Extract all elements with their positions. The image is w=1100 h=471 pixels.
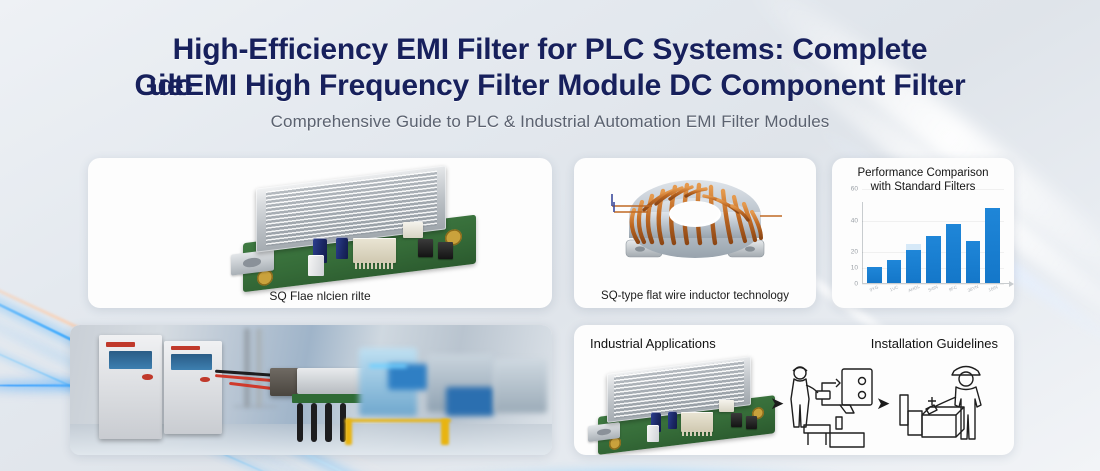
chart-bar-column: AHGL bbox=[906, 202, 921, 283]
card-applications-guidelines: Industrial Applications Installation Gui… bbox=[574, 325, 1014, 455]
filter-enclosure-icon bbox=[270, 368, 299, 397]
chart-bar bbox=[887, 260, 902, 283]
machinery-icon bbox=[446, 387, 494, 416]
conduit-pipe-icon bbox=[234, 406, 277, 408]
page-title-line-1: High-Efficiency EMI Filter for PLC Syste… bbox=[0, 34, 1100, 66]
output-cable-icon bbox=[325, 403, 331, 442]
chart-x-tick-label: 16IN bbox=[987, 284, 998, 292]
safety-railing-icon bbox=[345, 419, 451, 422]
transistor-icon bbox=[418, 239, 433, 257]
chart-bar bbox=[966, 241, 981, 283]
chart-bar bbox=[906, 250, 921, 283]
chart-bar bbox=[867, 267, 882, 283]
chart-y-tick-label: 40 bbox=[851, 217, 858, 224]
indicator-light-icon bbox=[200, 377, 210, 382]
industrial-installation-image bbox=[70, 325, 552, 455]
page-header: High-Efficiency EMI Filter for PLC Syste… bbox=[0, 34, 1100, 132]
component-square-icon bbox=[719, 400, 734, 412]
card-performance-chart: Performance Comparison with Standard Fil… bbox=[832, 158, 1014, 308]
chart-y-tick-label: 20 bbox=[851, 249, 858, 256]
machinery-icon bbox=[388, 364, 431, 390]
indicator-light-icon bbox=[142, 374, 153, 379]
card-caption-inductor: SQ-type flat wire inductor technology bbox=[574, 290, 816, 302]
chart-title-line-1: Performance Comparison bbox=[832, 167, 1014, 181]
conduit-pipe-icon bbox=[244, 328, 250, 409]
chart-y-tick-label: 10 bbox=[851, 265, 858, 272]
chart-bar-ghost bbox=[906, 244, 921, 250]
cabinet-label-icon bbox=[171, 346, 200, 351]
card-inductor-technology: SQ-type flat wire inductor technology bbox=[574, 158, 816, 308]
page-title-line-2-main: EMI High Frequency Filter Module DC Comp… bbox=[184, 69, 965, 102]
arrow-right-icon-2: ➤ bbox=[876, 395, 890, 412]
output-cable-icon bbox=[297, 403, 303, 442]
terminal-block-icon bbox=[353, 238, 396, 263]
card-emi-filter-module: SQ Flae nlcien rilte bbox=[88, 158, 552, 308]
card-caption-module: SQ Flae nlcien rilte bbox=[88, 289, 552, 303]
transistor-icon bbox=[746, 416, 757, 429]
emi-filter-module-image bbox=[590, 363, 780, 445]
chart-bar bbox=[946, 224, 961, 283]
chart-y-axis bbox=[862, 202, 863, 284]
hmi-display-icon bbox=[109, 351, 152, 369]
capacitor-icon bbox=[308, 255, 324, 276]
chart-y-tick-label: 0 bbox=[854, 281, 858, 288]
chart-x-axis-arrow-icon bbox=[1009, 281, 1014, 287]
installation-step-2-illustration bbox=[892, 355, 996, 451]
chart-x-tick-label: S4IN bbox=[928, 284, 939, 292]
capacitor-icon bbox=[668, 411, 678, 428]
chart-bar-group: 9YG1VCAHGLS4IN9FC38YN16IN bbox=[867, 202, 1000, 283]
safety-railing-icon bbox=[441, 419, 449, 445]
chart-bar-column: 38YN bbox=[966, 202, 981, 283]
card-factory-photo bbox=[70, 325, 552, 455]
chart-bar-column: 1VC bbox=[887, 202, 902, 283]
capacitor-icon bbox=[336, 237, 349, 259]
applications-heading: Industrial Applications bbox=[590, 336, 716, 351]
transistor-icon bbox=[731, 413, 742, 427]
chart-x-tick-label: 9YG bbox=[869, 284, 879, 292]
chart-x-tick-label: 9FC bbox=[948, 285, 958, 293]
page-subtitle: Comprehensive Guide to PLC & Industrial … bbox=[0, 112, 1100, 132]
page-title-line-2: Guide toEMI High Frequency Filter Module… bbox=[0, 69, 1100, 103]
chart-y-tick-label: 60 bbox=[851, 186, 858, 193]
chart-bar-column: 16IN bbox=[985, 202, 1000, 283]
chart-bar bbox=[985, 208, 1000, 283]
terminal-block-icon bbox=[681, 412, 713, 432]
chart-plot-area: 604020100 9YG1VCAHGLS4IN9FC38YN16IN bbox=[862, 202, 1004, 284]
chart-gridline bbox=[862, 189, 1004, 190]
cabinet-label-icon bbox=[106, 342, 135, 347]
page-title-line-2-prefix: Guide to bbox=[135, 69, 185, 102]
emi-filter-module-image bbox=[233, 174, 483, 280]
capacitor-icon bbox=[647, 425, 659, 441]
toroidal-inductor-image bbox=[600, 166, 790, 278]
component-square-icon bbox=[403, 222, 423, 238]
safety-railing-icon bbox=[345, 419, 353, 445]
installation-step-1-illustration bbox=[782, 355, 878, 451]
chart-bar-column: S4IN bbox=[926, 202, 941, 283]
chart-x-tick-label: AHGL bbox=[907, 284, 920, 293]
led-strip-icon bbox=[369, 364, 408, 368]
hmi-display-icon bbox=[171, 354, 212, 371]
chart-title-line-2: with Standard Filters bbox=[832, 181, 1014, 195]
conduit-pipe-icon bbox=[256, 328, 262, 409]
transistor-icon bbox=[438, 242, 453, 259]
machinery-icon bbox=[494, 359, 547, 414]
output-cable-icon bbox=[311, 403, 317, 442]
chart-bar-column: 9FC bbox=[946, 202, 961, 283]
chart-x-tick-label: 38YN bbox=[967, 284, 979, 293]
chart-bar-column: 9YG bbox=[867, 202, 882, 283]
guidelines-heading: Installation Guidelines bbox=[871, 336, 998, 351]
chart-bar bbox=[926, 236, 941, 283]
chart-x-tick-label: 1VC bbox=[889, 285, 899, 293]
